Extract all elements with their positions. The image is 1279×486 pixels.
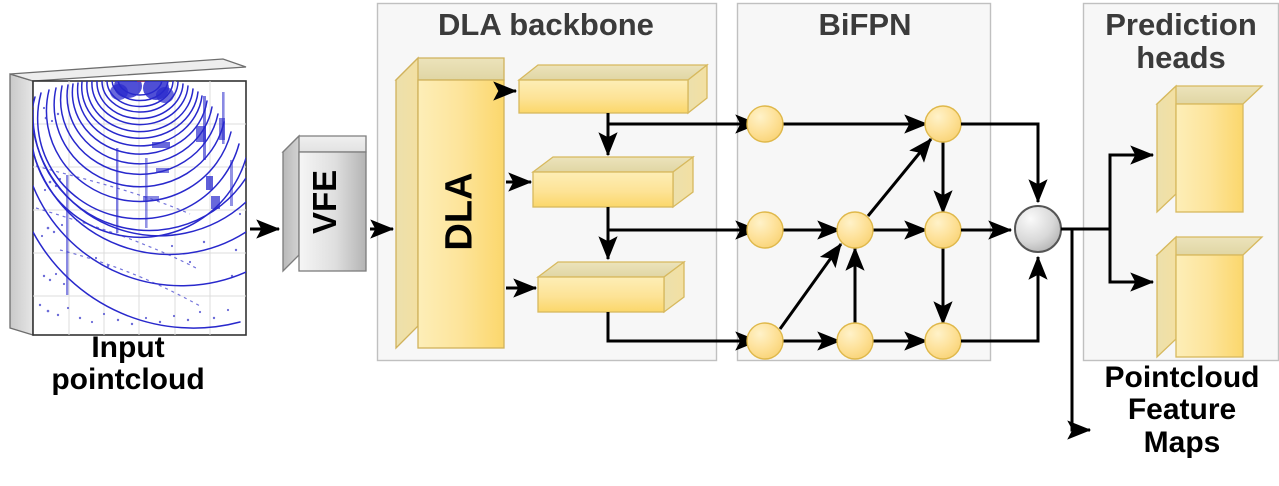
input-label-line1: Input <box>91 331 164 364</box>
panel-title-dla-backbone: DLA backbone <box>380 8 712 41</box>
bifpn-node-p3-out <box>925 323 961 359</box>
bifpn-node-p3-in <box>747 323 783 359</box>
panel-title-bifpn: BiFPN <box>740 8 990 41</box>
bifpn-node-p3-mid <box>837 323 873 359</box>
output-label-line3: Maps <box>1144 426 1221 459</box>
vfe-label: VFE <box>306 174 344 234</box>
output-label-line2: Feature <box>1128 393 1236 426</box>
prediction-heads-line1: Prediction <box>1105 7 1257 42</box>
bifpn-node-p2-out <box>925 212 961 248</box>
output-label-line1: Pointcloud <box>1105 361 1260 394</box>
input-label-line2: pointcloud <box>51 363 204 396</box>
concat-node <box>1015 206 1061 252</box>
panel-title-prediction-heads: Prediction heads <box>1086 8 1276 75</box>
bifpn-node-p1-out <box>925 106 961 142</box>
slab-level-2 <box>533 157 693 207</box>
bifpn-node-p2-in <box>747 212 783 248</box>
bifpn-node-p1-in <box>747 106 783 142</box>
dla-label: DLA <box>439 172 482 252</box>
slab-level-3 <box>538 262 684 312</box>
prediction-heads-line2: heads <box>1136 40 1226 75</box>
input-pointcloud-block <box>10 59 246 335</box>
input-pointcloud-label: Input pointcloud <box>10 332 246 397</box>
slab-level-1 <box>519 65 707 113</box>
pointcloud-feature-maps-label: Pointcloud Feature Maps <box>1085 362 1279 459</box>
architecture-diagram: DLA backbone BiFPN Prediction heads VFE … <box>0 0 1279 486</box>
panel-bifpn <box>738 4 991 361</box>
bifpn-node-p2-mid <box>837 212 873 248</box>
